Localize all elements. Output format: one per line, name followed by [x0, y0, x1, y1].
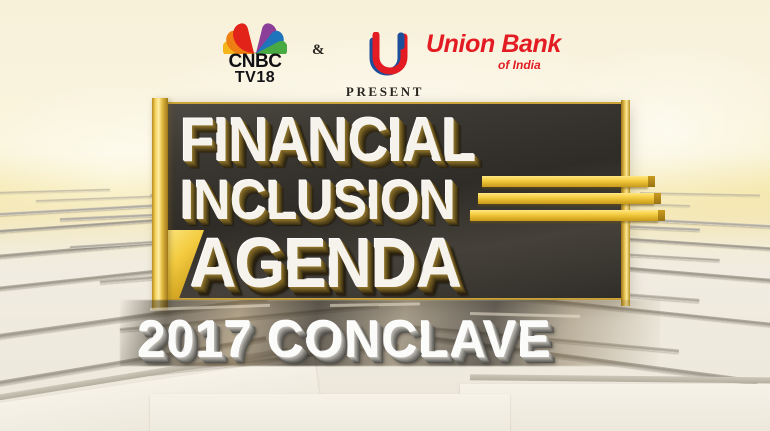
event-title-block: FINANCIAL INCLUSION AGENDA — [152, 102, 648, 308]
ampersand-separator: & — [312, 42, 325, 59]
union-bank-wordmark: Union Bank — [426, 31, 561, 57]
logo-row: CNBC TV18 & Union Bank of India — [0, 8, 770, 86]
title-line-inclusion: INCLUSION — [180, 172, 455, 228]
nbc-peacock-icon — [223, 12, 287, 54]
title-card-stage: CNBC TV18 & Union Bank of India PRESENT — [0, 0, 770, 431]
union-bank-u-monogram-icon — [368, 32, 420, 76]
union-bank-logo: Union Bank of India — [368, 30, 578, 82]
title-line-agenda: AGENDA — [190, 228, 461, 298]
union-bank-sub-wordmark: of India — [498, 59, 541, 71]
title-line-conclave: 2017 CONCLAVE — [138, 314, 552, 366]
gold-accent-bars — [482, 176, 650, 228]
floor-slab-center — [150, 394, 510, 431]
cnbc-tv18-logo: CNBC TV18 — [207, 12, 303, 86]
gold-post-left — [152, 98, 168, 310]
title-line-financial: FINANCIAL — [180, 110, 475, 172]
present-label: PRESENT — [0, 84, 770, 100]
